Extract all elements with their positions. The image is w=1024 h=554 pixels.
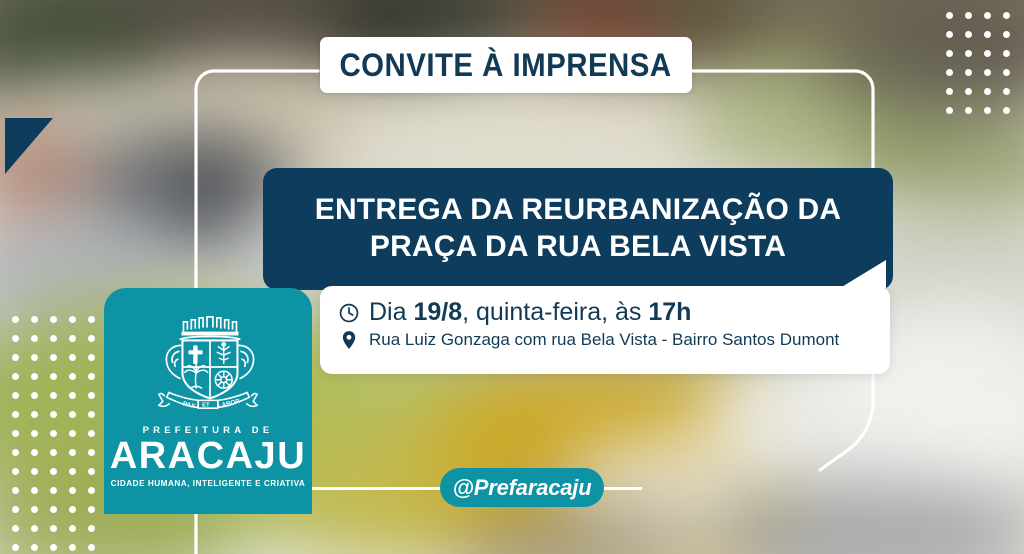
navy-bubble-tail bbox=[5, 118, 53, 174]
headline-line-1: ENTREGA DA REURBANIZAÇÃO DA bbox=[315, 192, 842, 229]
date-middle: , quinta-feira, às bbox=[462, 298, 648, 326]
time-value: 17h bbox=[648, 298, 691, 326]
event-date-row: Dia 19/8, quinta-feira, às 17h bbox=[338, 298, 890, 327]
svg-text:ET: ET bbox=[202, 403, 210, 409]
location-text: Rua Luiz Gonzaga com rua Bela Vista - Ba… bbox=[369, 330, 839, 350]
logo-name: ARACAJU bbox=[110, 437, 306, 475]
kicker-label: CONVITE À IMPRENSA bbox=[340, 47, 672, 84]
social-handle-pill[interactable]: @Prefaracaju bbox=[440, 468, 604, 507]
event-location-row: Rua Luiz Gonzaga com rua Bela Vista - Ba… bbox=[338, 330, 890, 350]
social-handle-label: @Prefaracaju bbox=[453, 475, 592, 501]
handle-rule-left bbox=[312, 487, 452, 490]
logo-tagline: CIDADE HUMANA, INTELIGENTE E CRIATIVA bbox=[111, 479, 306, 488]
aracaju-logo-card: PAX ET LABOR PREFEITURA DE ARACAJU CIDAD… bbox=[104, 288, 312, 514]
date-value: 19/8 bbox=[413, 298, 462, 326]
kicker-banner: CONVITE À IMPRENSA bbox=[320, 37, 692, 93]
info-panel-tail bbox=[840, 260, 886, 288]
map-pin-icon bbox=[338, 330, 360, 350]
clock-icon bbox=[338, 302, 360, 324]
aracaju-coat-of-arms-icon: PAX ET LABOR bbox=[149, 310, 267, 420]
headline-bubble: ENTREGA DA REURBANIZAÇÃO DA PRAÇA DA RUA… bbox=[263, 168, 893, 290]
event-details-panel: Dia 19/8, quinta-feira, às 17h Rua Luiz … bbox=[320, 286, 890, 374]
press-invite-banner: CONVITE À IMPRENSA ENTREGA DA REURBANIZA… bbox=[0, 0, 1024, 554]
headline-line-2: PRAÇA DA RUA BELA VISTA bbox=[370, 229, 786, 266]
svg-text:PAX: PAX bbox=[182, 400, 197, 410]
date-prefix: Dia bbox=[369, 298, 413, 326]
